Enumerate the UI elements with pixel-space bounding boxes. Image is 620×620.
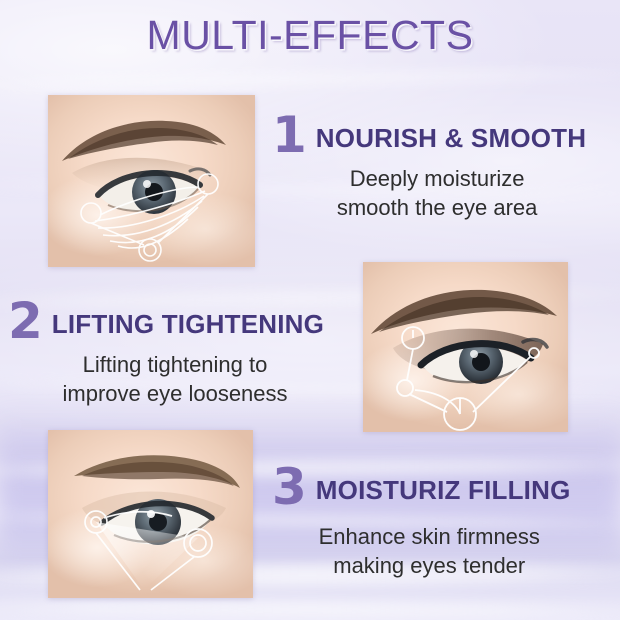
poster-canvas: MULTI-EFFECTS (0, 0, 620, 620)
feature-desc-line: improve eye looseness (26, 379, 324, 408)
feature-desc-line: Lifting tightening to (26, 350, 324, 379)
feature-desc-line: Enhance skin firmness (288, 522, 571, 551)
feature-desc-line: making eyes tender (288, 551, 571, 580)
feature-number-3: 3 (272, 464, 307, 510)
feature-photo-3 (48, 430, 253, 598)
eye-illustration-1 (48, 95, 255, 267)
feature-desc-2: Lifting tightening to improve eye loosen… (8, 350, 324, 408)
feature-photo-1 (48, 95, 255, 267)
eye-illustration-3 (48, 430, 253, 598)
feature-title-1: NOURISH & SMOOTH (316, 123, 586, 158)
feature-heading-row-2: 2 LIFTING TIGHTENING (8, 298, 324, 344)
feature-number-1: 1 (272, 112, 307, 158)
poster-title: MULTI-EFFECTS (0, 12, 620, 59)
feature-desc-line: Deeply moisturize (288, 164, 586, 193)
feature-heading-row-3: 3 MOISTURIZ FILLING (272, 464, 571, 510)
feature-heading-row-1: 1 NOURISH & SMOOTH (272, 112, 586, 158)
feature-desc-3: Enhance skin firmness making eyes tender (272, 522, 571, 580)
eye-illustration-2 (363, 262, 568, 432)
feature-number-2: 2 (8, 298, 43, 344)
feature-title-3: MOISTURIZ FILLING (316, 475, 571, 510)
feature-desc-line: smooth the eye area (288, 193, 586, 222)
feature-title-2: LIFTING TIGHTENING (52, 309, 324, 344)
feature-desc-1: Deeply moisturize smooth the eye area (272, 164, 586, 222)
feature-block-2: 2 LIFTING TIGHTENING Lifting tightening … (8, 298, 324, 408)
feature-block-3: 3 MOISTURIZ FILLING Enhance skin firmnes… (272, 464, 571, 580)
feature-photo-2 (363, 262, 568, 432)
feature-block-1: 1 NOURISH & SMOOTH Deeply moisturize smo… (272, 112, 586, 222)
